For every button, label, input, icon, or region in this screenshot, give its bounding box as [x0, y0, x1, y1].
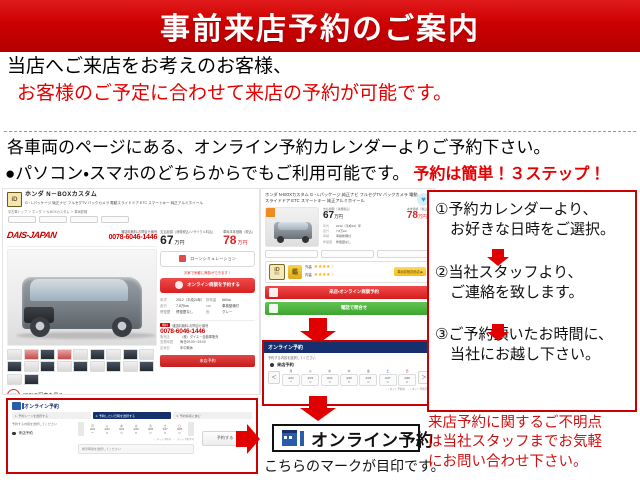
wizard-day[interactable]: 金 4/26 ○ [144, 424, 157, 435]
photo-thumbnail[interactable] [139, 349, 154, 360]
total-price-unit: 万円 [175, 240, 185, 246]
photo-thumbnail[interactable] [90, 361, 105, 372]
calendar-dow: 水 [321, 369, 339, 374]
shop-info-row: 定休日 年中無休 [160, 346, 255, 352]
mobile-tab-row[interactable] [261, 247, 434, 258]
wizard-day[interactable]: 土 4/27 ○ [159, 424, 172, 435]
body-price-unit: 万円 [237, 240, 247, 246]
intro-block: 当店へご来店をお考えのお客様、 お客様のご予定に合わせて来店の予約が可能です。 [0, 54, 640, 108]
calendar-card-note: 予約する内容を選択してください [264, 353, 434, 360]
calculator-icon [179, 255, 186, 262]
listing-left-column: DAIS-JAPAN 通話料無料・お問合せ番号 0078-6046-1446 [7, 225, 157, 395]
arrow-head [487, 332, 509, 341]
mobile-tab[interactable] [321, 250, 374, 258]
wizard-day[interactable]: 木 4/25 ○ [130, 424, 143, 435]
intro-line-4: ●パソコン・スマホのどちらからでもご利用可能です。 [5, 159, 409, 184]
mobile-total-price-unit: 万円 [334, 214, 343, 219]
mobile-phone-inquiry-button[interactable]: 電話で問合せ [265, 302, 430, 315]
step-2-line-2: ご連絡を致します。 [435, 283, 629, 303]
wizard-calendar-column: 月 4/22 − 火 4/23 ○ 水 4/24 ○ [78, 422, 194, 454]
inspection-rating-box: iD 鑑定 鑑 外装 ★★★★☆ 内装 ★★★★☆ 車両詳細評価書 ▶ [265, 261, 430, 283]
wizard-header: オンライン予約 [8, 400, 256, 412]
three-step-badge: 予約は簡単！３ステップ！ [413, 160, 605, 184]
photo-thumbnail[interactable] [106, 349, 121, 360]
shop-phone-number: 0078-6046-1446 [160, 328, 255, 335]
mobile-total-price-number: 67 [323, 210, 334, 221]
photo-thumbnail[interactable] [24, 361, 39, 372]
calendar-dow: 日 [398, 369, 416, 374]
online-reservation-building-icon [282, 430, 304, 446]
page-title: 事前来店予約のご案内 [160, 4, 480, 48]
calendar-day-box[interactable]: 4/26 ○ [359, 374, 377, 387]
spec-value: グレー [222, 309, 252, 315]
wizard-option-row[interactable]: 来店予約 [12, 431, 74, 436]
spec-key: 修復歴 [160, 309, 176, 315]
step-1: ①予約カレンダーより、 お好きな日時をご選択。 [435, 200, 629, 241]
mobile-phone-inquiry-label: 電話で問合せ [282, 305, 426, 311]
mobile-visit-online-reservation-button[interactable]: 来店・オンライン商談予約 [265, 286, 430, 299]
calendar-option-label: 来店予約 [277, 362, 294, 368]
free-call-badge: 無料 [160, 323, 170, 327]
interior-rating-label: 内装 [305, 273, 312, 278]
radio-selected-icon [12, 432, 16, 436]
goo-inspection-icon: 鑑 [288, 265, 302, 279]
three-steps-panel: ①予約カレンダーより、 お好きな日時をご選択。 ②当社スタッフより、 ご連絡を致… [427, 190, 637, 412]
mobile-main-row: 支払総額（消費税込） 67万円 本体価格（税込） 78万円 年式 2012（平成… [261, 207, 434, 247]
photo-thumbnail[interactable] [57, 361, 72, 372]
spec-row: 修復歴 修復歴なし 色 グレー [160, 309, 255, 315]
spec-value: 修復歴なし [176, 309, 206, 315]
mobile-tab[interactable] [265, 250, 318, 258]
car-wheel [30, 317, 50, 337]
arrow-head [300, 408, 336, 421]
step-3-line-2: 当社にお越し下さい。 [435, 345, 629, 365]
radio-selected-icon [270, 363, 274, 367]
listing-car-subtitle: G・Lパッケージ 純正ナビ フルセグTV バックカメラ 電動スライドドア ETC… [25, 201, 203, 206]
online-reservation-mark-button[interactable]: オンライン予約 [272, 424, 420, 452]
wizard-availability: ○ [101, 431, 114, 435]
mobile-spec-key: 修復歴 [323, 240, 336, 245]
id-badge-icon: iD [7, 192, 22, 207]
interior-rating-row: 内装 ★★★★☆ [305, 272, 391, 280]
online-reservation-mark-label: オンライン予約 [311, 426, 434, 451]
wizard-step-2[interactable]: 2. 予約したい日時を選択する [93, 412, 172, 419]
visit-reservation-button[interactable]: 来店予約 [160, 355, 255, 367]
calendar-availability: − [283, 380, 299, 385]
contact-note-line-3: にお問い合わせ下さい。 [428, 453, 640, 472]
intro-line-3: 各車両のページにある、オンライン予約カレンダーよりご予約下さい。 [0, 136, 640, 159]
step-2: ②当社スタッフより、 ご連絡を致します。 [435, 263, 629, 304]
step-3-line-1: ③ご予約頂いたお時間に、 [435, 325, 629, 345]
online-negotiation-label: オンライン商談を予約する [187, 282, 240, 288]
spec-key: 色 [206, 309, 222, 315]
step-1-line-2: お好きな日時をご選択。 [435, 220, 629, 240]
calendar-day[interactable]: 水 4/24 ○ [321, 369, 339, 386]
wizard-day[interactable]: 月 4/22 − [86, 424, 99, 435]
desktop-reservation-wizard-screenshot: オンライン予約 1. 予約シーンを選択する 2. 予約したい日時を選択する 3.… [6, 398, 258, 474]
mobile-body-price-unit: 万円 [418, 214, 427, 219]
calendar-icon [269, 288, 278, 297]
wizard-step-1[interactable]: 1. 予約シーンを選択する [12, 412, 91, 419]
photo-thumbnail[interactable] [40, 349, 55, 360]
online-negotiation-button[interactable]: オンライン商談を予約する [160, 278, 255, 293]
mobile-spec-table: 年式 2012（平成24）年 走行 7.8万km 車検 車検整備付 修復歴 修復… [323, 224, 430, 246]
photo-thumbnail[interactable] [90, 349, 105, 360]
mobile-price-row: 支払総額（消費税込） 67万円 本体価格（税込） 78万円 [323, 207, 430, 221]
mobile-car-title-text: ホンダ N-BOXカスタム G・Lパッケージ 純正ナビ フルセグTV バックカメ… [265, 192, 418, 203]
photo-thumbnail[interactable] [24, 349, 39, 360]
wizard-body: 予約する内容を選択してください 来店予約 月 4/22 − [8, 419, 256, 454]
wizard-time-hint: 希望時間を選択してください [78, 444, 194, 454]
step-2-line-1: ②当社スタッフより、 [435, 263, 629, 283]
calendar-day-box[interactable]: 4/25 ○ [340, 374, 358, 387]
photo-thumbnail[interactable] [73, 349, 88, 360]
mobile-body-price-number: 78 [407, 210, 418, 221]
listing-pill[interactable] [101, 216, 129, 223]
listing-pill[interactable] [39, 216, 67, 223]
listing-pill[interactable] [70, 216, 98, 223]
calendar-day-box[interactable]: 4/22 − [282, 374, 300, 387]
calendar-availability: ○ [322, 380, 338, 385]
id-inspection-icon: iD 鑑定 [269, 264, 285, 280]
desktop-listing-screenshot: iD ホンダ N－BOXカスタム G・Lパッケージ 純正ナビ フルセグTV バッ… [2, 188, 260, 395]
body-price-value: 78万円 [223, 234, 255, 246]
arrow-head [247, 424, 260, 454]
calendar-prev-button[interactable]: ＜ [268, 371, 280, 384]
calendar-availability: ○ [302, 380, 318, 385]
wizard-availability: ○ [173, 431, 186, 435]
wizard-day-cells: 月 4/22 − 火 4/23 ○ 水 4/24 ○ [86, 424, 186, 435]
body-price-number: 78 [223, 233, 236, 247]
contact-note: 来店予約に関するご不明点 は当社スタッフまでお気軽 にお問い合わせ下さい。 [428, 414, 640, 472]
view-360-link[interactable]: 360 360°の写真を見る [7, 389, 157, 395]
listing-car-title: ホンダ N－BOXカスタム [25, 192, 203, 200]
listing-right-column: 支払総額（消費税込・リサイクル料込） 67万円 車両本体価格（税込） 78万円 … [157, 225, 255, 395]
photo-thumbnail[interactable] [24, 374, 39, 385]
mobile-info-column: 支払総額（消費税込） 67万円 本体価格（税込） 78万円 年式 2012（平成… [323, 207, 430, 247]
mobile-spec-value: 修復歴なし [336, 240, 378, 245]
shop-logo-row: DAIS-JAPAN 通話料無料・お問合せ番号 0078-6046-1446 [7, 225, 157, 247]
photo-thumbnail[interactable] [7, 349, 22, 360]
photo-thumbnail[interactable] [40, 361, 55, 372]
intro-line-4-row: ●パソコン・スマホのどちらからでもご利用可能です。 予約は簡単！３ステップ！ [0, 159, 640, 184]
online-reservation-calendar-card: オンライン予約 予約する内容を選択してください 来店予約 ＜ 月 4/22 − … [262, 340, 436, 406]
wizard-step-3[interactable]: 3. 予約情報に進む [173, 412, 252, 419]
exterior-rating-stars: ★★★★☆ [314, 264, 334, 272]
wizard-option-label: 来店予約 [19, 431, 33, 436]
video-camera-icon [175, 281, 183, 289]
phone-icon [269, 304, 278, 313]
wizard-availability: − [86, 431, 99, 435]
photo-thumbnail[interactable] [7, 361, 22, 372]
shop-info-key: 定休日 [160, 346, 180, 352]
mobile-tab[interactable] [377, 250, 430, 258]
calendar-day[interactable]: 日 4/28 ○ [398, 369, 416, 386]
exterior-rating-row: 外装 ★★★★☆ [305, 264, 391, 272]
total-price-value: 67万円 [160, 234, 215, 246]
photo-thumbnail[interactable] [139, 361, 154, 372]
calendar-option-row[interactable]: 来店予約 [264, 360, 434, 369]
photo-thumbnail[interactable] [57, 349, 72, 360]
online-negotiation-note: お家で気軽に商談ができます！ [160, 270, 255, 275]
photo-thumbnail[interactable] [123, 361, 138, 372]
contact-note-line-2: は当社スタッフまでお気軽 [428, 433, 640, 452]
calendar-availability: ○ [399, 380, 415, 385]
calendar-dow: 土 [379, 369, 397, 374]
calendar-availability: ○ [341, 380, 357, 385]
calendar-day-box[interactable]: 4/24 ○ [321, 374, 339, 387]
loan-simulation-button[interactable]: ローンシミュレーション [160, 251, 255, 267]
calendar-card-header: オンライン予約 [264, 342, 434, 353]
calendar-availability: ○ [380, 380, 396, 385]
mobile-car-title: ホンダ N-BOXカスタム G・Lパッケージ 純正ナビ フルセグTV バックカメ… [261, 189, 434, 207]
wizard-day[interactable]: 日 4/28 ○ [173, 424, 186, 435]
id-badge-sub: 鑑定 [274, 273, 279, 276]
listing-tab-pills[interactable] [3, 216, 259, 225]
calendar-legend: ○：ネット予約可 −：ネット予約不可 [264, 386, 434, 391]
intro-line-2: お客様のご予定に合わせて来店の予約が可能です。 [0, 81, 640, 108]
photo-thumbnail[interactable] [123, 349, 138, 360]
step-1-line-1: ①予約カレンダーより、 [435, 200, 629, 220]
wizard-day[interactable]: 水 4/24 ○ [115, 424, 128, 435]
step-3: ③ご予約頂いたお時間に、 当社にお越し下さい。 [435, 325, 629, 366]
shop-info-value: 年中無休 [180, 346, 193, 352]
wizard-availability: ○ [159, 431, 172, 435]
shop-contact-block: 無料 通話料無料・お問合せ番号 0078-6046-1446 販売店 （株）ダイ… [160, 320, 255, 367]
wizard-calendar-prev-button[interactable] [78, 422, 84, 436]
photo-thumbnail[interactable] [7, 374, 22, 385]
wizard-step-tabs: 1. 予約シーンを選択する 2. 予約したい日時を選択する 3. 予約情報に進む [8, 412, 256, 419]
shop-tel-number: 0078-6046-1446 [109, 234, 158, 241]
calendar-day[interactable]: 木 4/25 ○ [340, 369, 358, 386]
car-window-shape [278, 222, 308, 230]
car-wheel [302, 236, 309, 243]
wizard-availability: ○ [144, 431, 157, 435]
listing-body: DAIS-JAPAN 通話料無料・お問合せ番号 0078-6046-1446 [3, 225, 259, 395]
total-price-block: 支払総額（消費税込・リサイクル料込） 67万円 [160, 229, 215, 246]
wizard-day[interactable]: 火 4/23 ○ [101, 424, 114, 435]
poster-root: 事前来店予約のご案内 当店へご来店をお考えのお客様、 お客様のご予定に合わせて来… [0, 0, 640, 480]
arrow-stem [309, 318, 327, 332]
listing-pill[interactable] [8, 216, 36, 223]
calendar-dow: 火 [301, 369, 319, 374]
photo-thumbnail-strip[interactable] [7, 349, 157, 385]
calendar-day[interactable]: 土 4/27 ○ [379, 369, 397, 386]
calendar-day[interactable]: 金 4/26 ○ [359, 369, 377, 386]
exterior-rating-label: 外装 [305, 265, 312, 270]
calendar-day[interactable]: 月 4/22 − [282, 369, 300, 386]
intro-block-2: 各車両のページにある、オンライン予約カレンダーよりご予約下さい。 ●パソコン・ス… [0, 136, 640, 184]
wizard-calendar-next-button[interactable] [188, 422, 194, 436]
shop-tel-block: 通話料無料・お問合せ番号 0078-6046-1446 [109, 229, 158, 241]
car-wheel [112, 317, 132, 337]
wizard-availability: ○ [130, 431, 143, 435]
building-body-shape [282, 433, 297, 446]
car-wheel [277, 236, 284, 243]
mobile-total-price: 支払総額（消費税込） 67万円 [323, 207, 352, 221]
wizard-option-column: 予約する内容を選択してください 来店予約 [12, 422, 74, 454]
loan-simulation-label: ローンシミュレーション [190, 256, 236, 262]
wizard-calendar: 月 4/22 − 火 4/23 ○ 水 4/24 ○ [78, 422, 194, 436]
mobile-visit-online-reservation-label: 来店・オンライン商談予約 [282, 289, 426, 295]
total-price-number: 67 [160, 233, 173, 247]
page-header-banner: 事前来店予約のご案内 [0, 0, 640, 52]
wizard-note: 予約する内容を選択してください [12, 422, 74, 427]
car-photo[interactable] [7, 249, 157, 346]
photo-corner-tag [266, 208, 275, 217]
photo-thumbnail[interactable] [106, 361, 121, 372]
mobile-car-photo[interactable] [265, 207, 319, 247]
tel-badge-label: 通話料無料・お問合せ番号 [172, 323, 208, 328]
calendar-day-cells: 月 4/22 − 火 4/23 ○ 水 4/24 [282, 369, 416, 386]
visit-reservation-label: 来店予約 [200, 358, 216, 364]
calendar-day-box[interactable]: 4/27 ○ [379, 374, 397, 387]
listing-breadcrumb: 中古車トップ ＞ ホンダ ＞ N-BOXカスタム ＞ 車両詳細 [3, 207, 259, 216]
calendar-day-box[interactable]: 4/28 ○ [398, 374, 416, 387]
car-window-shape [30, 279, 128, 301]
mobile-spec-row: 修復歴 修復歴なし [323, 240, 430, 245]
contact-note-line-1: 来店予約に関するご不明点 [428, 414, 640, 433]
view-360-label: 360°の写真を見る [23, 392, 63, 395]
photo-thumbnail[interactable] [73, 361, 88, 372]
wizard-availability: ○ [115, 431, 128, 435]
shop-logo: DAIS-JAPAN [6, 230, 57, 240]
arrow-head [487, 257, 509, 266]
body-price-block: 車両本体価格（税込） 78万円 [223, 229, 255, 246]
rating-column: 外装 ★★★★☆ 内装 ★★★★☆ [305, 264, 391, 279]
camera-360-icon: 360 [7, 389, 20, 395]
price-row: 支払総額（消費税込・リサイクル料込） 67万円 車両本体価格（税込） 78万円 [160, 225, 255, 246]
building-post-shape [300, 431, 304, 446]
wizard-title: オンライン予約 [24, 403, 59, 410]
divider [4, 131, 636, 132]
interior-rating-stars: ★★★★☆ [314, 272, 334, 280]
calendar-dow: 月 [282, 369, 300, 374]
listing-header: iD ホンダ N－BOXカスタム G・Lパッケージ 純正ナビ フルセグTV バッ… [3, 189, 259, 207]
calendar-day-box[interactable]: 4/23 ○ [301, 374, 319, 387]
online-reservation-building-icon [12, 402, 21, 410]
wizard-legend: ○：ネット予約可 −：ネット予約不可 [78, 437, 194, 441]
calendar-day[interactable]: 火 4/23 ○ [301, 369, 319, 386]
calendar-availability: ○ [360, 380, 376, 385]
evaluation-sheet-button[interactable]: 車両詳細評価書 ▶ [394, 267, 426, 276]
spec-table: 年式 2012（平成24年） 排気量 660cc 走行 7.8万km car 車… [160, 297, 255, 316]
intro-line-1: 当店へご来店をお考えのお客様、 [0, 54, 640, 81]
calendar-dow: 木 [340, 369, 358, 374]
calendar-grid: ＜ 月 4/22 − 火 4/23 ○ 水 [264, 369, 434, 386]
calendar-dow: 金 [359, 369, 377, 374]
